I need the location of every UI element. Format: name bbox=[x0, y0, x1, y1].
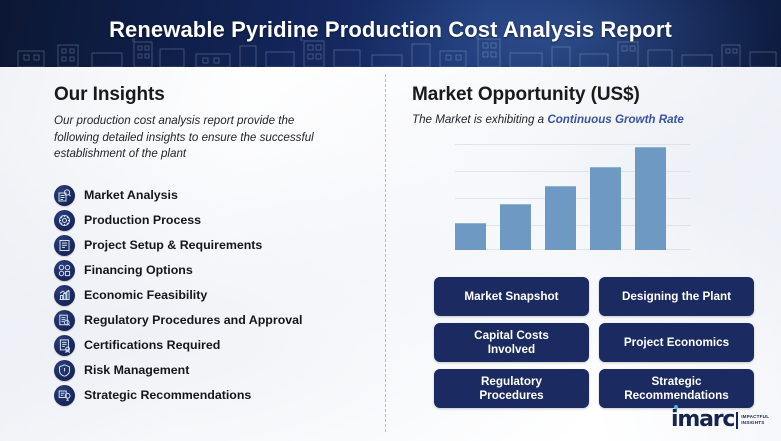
tagline-line-2: INSIGHTS bbox=[741, 420, 769, 426]
list-item-label: Certifications Required bbox=[84, 338, 220, 352]
panel-divider bbox=[385, 74, 386, 432]
chart-bar bbox=[455, 223, 486, 250]
list-item[interactable]: Risk Management bbox=[54, 358, 364, 383]
page-title: Renewable Pyridine Production Cost Analy… bbox=[0, 17, 781, 43]
chart-bars bbox=[455, 138, 690, 250]
list-item-label: Regulatory Procedures and Approval bbox=[84, 313, 303, 327]
risk-management-icon bbox=[54, 360, 75, 381]
regulatory-procedures-button[interactable]: Regulatory Procedures bbox=[434, 369, 589, 408]
market-snapshot-button[interactable]: Market Snapshot bbox=[434, 277, 589, 316]
list-item-label: Risk Management bbox=[84, 363, 189, 377]
list-item[interactable]: Strategic Recommendations bbox=[54, 383, 364, 408]
imarc-logo: imarc IMPACTFUL INSIGHTS bbox=[671, 409, 769, 431]
financing-options-icon bbox=[54, 260, 75, 281]
chart-bar bbox=[590, 167, 621, 250]
logo-dot-icon bbox=[674, 405, 678, 409]
subtitle-plain-text: The Market is exhibiting a bbox=[412, 113, 547, 126]
imarc-wordmark: imarc bbox=[671, 409, 734, 431]
list-item-label: Economic Feasibility bbox=[84, 288, 207, 302]
certifications-icon bbox=[54, 335, 75, 356]
chart-bar bbox=[500, 204, 531, 250]
page-header: Renewable Pyridine Production Cost Analy… bbox=[0, 0, 781, 67]
list-item-label: Market Analysis bbox=[84, 188, 178, 202]
insights-subtitle: Our production cost analysis report prov… bbox=[54, 113, 336, 163]
chart-bar bbox=[545, 186, 576, 250]
list-item[interactable]: Market Analysis bbox=[54, 183, 364, 208]
list-item[interactable]: Certifications Required bbox=[54, 333, 364, 358]
market-opportunity-heading: Market Opportunity (US$) bbox=[412, 84, 762, 106]
designing-the-plant-button[interactable]: Designing the Plant bbox=[599, 277, 754, 316]
market-opportunity-panel: Market Opportunity (US$) The Market is e… bbox=[412, 84, 762, 126]
list-item[interactable]: Regulatory Procedures and Approval bbox=[54, 308, 364, 333]
list-item-label: Project Setup & Requirements bbox=[84, 238, 262, 252]
market-analysis-icon bbox=[54, 185, 75, 206]
strategic-recommendations-button[interactable]: Strategic Recommendations bbox=[599, 369, 754, 408]
list-item[interactable]: Production Process bbox=[54, 208, 364, 233]
list-item-label: Financing Options bbox=[84, 263, 193, 277]
economic-feasibility-icon bbox=[54, 285, 75, 306]
insights-heading: Our Insights bbox=[54, 84, 364, 106]
strategic-recommendations-icon bbox=[54, 385, 75, 406]
imarc-wordmark-text: imarc bbox=[671, 407, 734, 432]
list-item-label: Production Process bbox=[84, 213, 201, 227]
report-infographic: Renewable Pyridine Production Cost Analy… bbox=[0, 0, 781, 441]
subtitle-accent-text: Continuous Growth Rate bbox=[547, 113, 684, 126]
list-item[interactable]: Economic Feasibility bbox=[54, 283, 364, 308]
production-process-icon bbox=[54, 210, 75, 231]
cta-button-grid: Market Snapshot Designing the Plant Capi… bbox=[434, 277, 754, 408]
list-item[interactable]: Financing Options bbox=[54, 258, 364, 283]
market-opportunity-subtitle: The Market is exhibiting a Continuous Gr… bbox=[412, 113, 762, 126]
insights-list: Market Analysis Production Process bbox=[54, 183, 364, 408]
chart-bar bbox=[635, 147, 666, 250]
project-economics-button[interactable]: Project Economics bbox=[599, 323, 754, 362]
regulatory-procedures-icon bbox=[54, 310, 75, 331]
market-growth-bar-chart bbox=[455, 138, 690, 250]
project-setup-icon bbox=[54, 235, 75, 256]
imarc-tagline: IMPACTFUL INSIGHTS bbox=[741, 414, 769, 426]
list-item-label: Strategic Recommendations bbox=[84, 388, 251, 402]
insights-panel: Our Insights Our production cost analysi… bbox=[54, 84, 364, 408]
list-item[interactable]: Project Setup & Requirements bbox=[54, 233, 364, 258]
capital-costs-involved-button[interactable]: Capital Costs Involved bbox=[434, 323, 589, 362]
logo-divider bbox=[736, 412, 738, 429]
